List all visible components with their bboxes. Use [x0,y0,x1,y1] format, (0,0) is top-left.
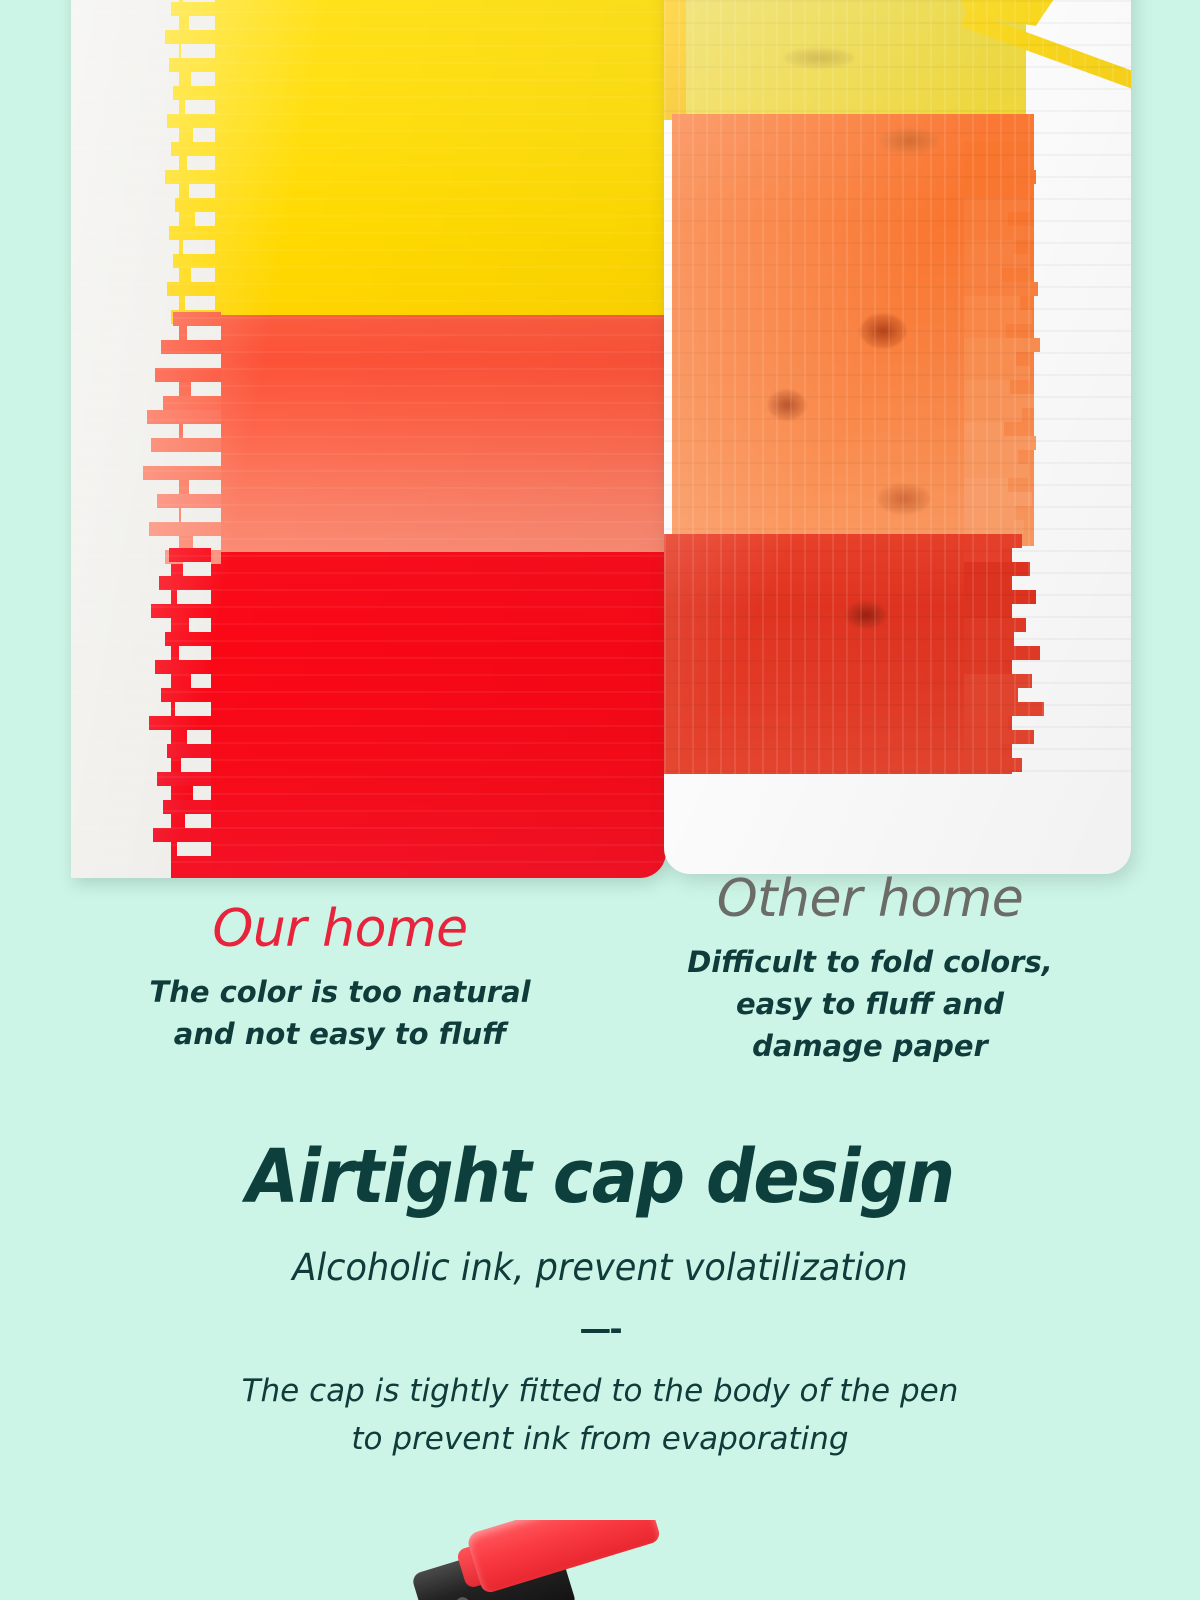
paper-damage-blotch [878,484,930,514]
feature-description: The cap is tightly fitted to the body of… [0,1367,1200,1463]
paper-damage-blotch [846,602,886,628]
caption-other-home: Other home Difficult to fold colors, eas… [620,872,1120,1067]
left-coral-band [179,315,666,565]
feature-subtitle: Alcoholic ink, prevent volatilization [30,1248,1170,1289]
paper-damage-blotch [880,128,938,154]
our-home-description: The color is too natural and not easy to… [60,971,620,1055]
caption-row: Our home The color is too natural and no… [0,880,1200,1120]
feature-divider: —- [0,1313,1200,1345]
our-home-title: Our home [60,902,620,957]
left-red-ragged-edge [71,548,211,878]
left-yellow-band [179,0,666,330]
right-yellow-gutter [664,0,686,120]
other-home-description: Difficult to fold colors, easy to fluff … [620,941,1120,1067]
feature-section: Airtight cap design Alcoholic ink, preve… [0,1140,1200,1463]
right-red-ragged-edge [964,534,1084,776]
pen-illustration-area [0,1520,1200,1600]
photo-comparison-area [0,0,1200,890]
paper-damage-blotch [784,48,854,68]
highlighter-pen [430,1520,695,1600]
our-marker-swatch-photo [71,0,666,878]
other-marker-swatch-photo [664,0,1131,874]
paper-damage-blotch [768,390,806,420]
feature-title: Airtight cap design [48,1140,1152,1214]
paper-damage-blotch [860,314,906,348]
pen-body-dot [454,1595,471,1600]
left-red-band [171,552,666,878]
right-orange-ragged-edge [964,114,1074,548]
right-red-band [664,534,1012,774]
caption-our-home: Our home The color is too natural and no… [60,902,620,1055]
product-comparison-page: Our home The color is too natural and no… [0,0,1200,1600]
left-yellow-ragged-edge [71,0,211,332]
left-coral-ragged-edge [71,312,221,564]
other-home-title: Other home [620,872,1120,927]
